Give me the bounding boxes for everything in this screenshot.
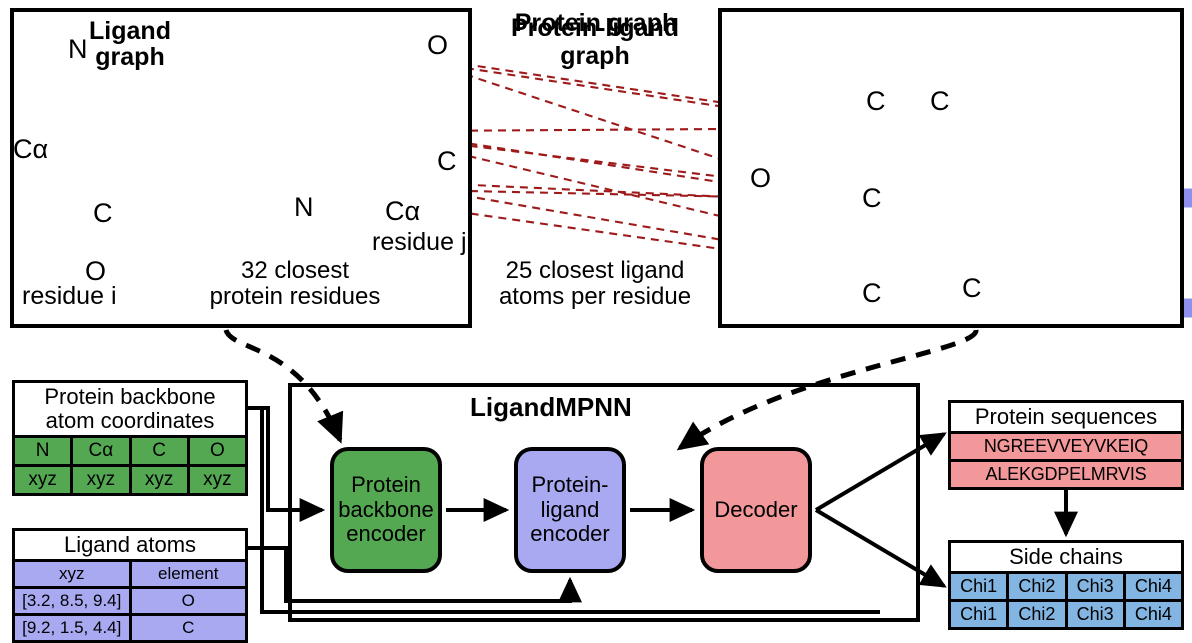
backbone-encoder-line1: Protein xyxy=(338,473,433,498)
pl-encoder-line1: Protein- xyxy=(530,473,610,498)
residue-j-o-label: O xyxy=(427,32,448,59)
table-row: N Cα C O xyxy=(15,438,245,467)
protein-graph-caption: 32 closest protein residues xyxy=(175,258,415,311)
table-cell: Chi3 xyxy=(1068,574,1126,599)
protein-ligand-caption-line2: atoms per residue xyxy=(470,284,720,310)
ligand-atoms-table-title: Ligand atoms xyxy=(15,531,245,562)
residue-j-label: residue j xyxy=(372,228,467,257)
residue-j-c-label: C xyxy=(437,148,457,175)
side-chains-table: Side chains Chi1 Chi2 Chi3 Chi4 Chi1 Chi… xyxy=(948,540,1184,630)
ligand-c-mid-label: C xyxy=(862,185,882,212)
pl-encoder-line3: encoder xyxy=(530,522,610,547)
side-chains-table-title: Side chains xyxy=(951,543,1181,574)
table-cell: N xyxy=(15,438,73,464)
table-cell: O xyxy=(132,589,246,613)
table-cell: element xyxy=(132,562,246,586)
protein-backbone-table-title: Protein backbone atom coordinates xyxy=(15,383,245,438)
protein-graph-caption-line1: 32 closest xyxy=(175,258,415,284)
backbone-encoder-line3: encoder xyxy=(338,522,433,547)
table-row: [9.2, 1.5, 4.4] C xyxy=(15,616,245,640)
protein-ligand-graph-title: Protein-ligand graph xyxy=(480,14,710,70)
table-cell: Chi4 xyxy=(1126,574,1181,599)
protein-backbone-title-line2: atom coordinates xyxy=(19,409,241,433)
table-row: xyz element xyxy=(15,562,245,589)
decoder-block[interactable]: Decoder xyxy=(700,447,812,573)
table-cell: ALEKGDPELMRVIS xyxy=(951,462,1181,487)
protein-backbone-title-line1: Protein backbone xyxy=(19,385,241,409)
table-cell: C xyxy=(132,438,190,464)
ligand-graph-panel xyxy=(718,8,1184,328)
protein-ligand-graph-title-line2: graph xyxy=(480,42,710,70)
table-cell: xyz xyxy=(190,467,245,493)
table-cell: xyz xyxy=(15,562,132,586)
table-cell: xyz xyxy=(15,467,73,493)
table-cell: Chi3 xyxy=(1068,602,1126,627)
residue-i-ca-label: Cα xyxy=(13,136,48,163)
table-cell: NGREEVVEYVKEIQ xyxy=(951,434,1181,459)
table-cell: Chi1 xyxy=(951,602,1009,627)
ligand-c-bot-left-label: C xyxy=(862,280,882,307)
table-row: Chi1 Chi2 Chi3 Chi4 xyxy=(951,602,1181,627)
protein-graph-caption-line2: protein residues xyxy=(175,284,415,310)
residue-i-n-label: N xyxy=(68,36,88,63)
table-cell: O xyxy=(190,438,245,464)
table-cell: C xyxy=(132,616,246,640)
ligand-o-label: O xyxy=(750,165,771,192)
table-row: Chi1 Chi2 Chi3 Chi4 xyxy=(951,574,1181,602)
residue-i-o-label: O xyxy=(85,258,106,285)
table-cell: Chi2 xyxy=(1009,602,1067,627)
ligand-c-bot-right-label: C xyxy=(962,275,982,302)
decoder-label: Decoder xyxy=(714,498,797,523)
table-row: xyz xyz xyz xyz xyxy=(15,467,245,493)
backbone-encoder-line2: backbone xyxy=(338,498,433,523)
table-cell: Chi1 xyxy=(951,574,1009,599)
ligand-c-top-left-label: C xyxy=(866,88,886,115)
residue-i-c-label: C xyxy=(93,200,113,227)
table-cell: Chi2 xyxy=(1009,574,1067,599)
residue-j-n-label: N xyxy=(294,194,314,221)
table-cell: Cα xyxy=(73,438,131,464)
table-cell: [9.2, 1.5, 4.4] xyxy=(15,616,132,640)
pl-encoder-line2: ligand xyxy=(530,498,610,523)
table-row: ALEKGDPELMRVIS xyxy=(951,462,1181,487)
table-cell: xyz xyxy=(73,467,131,493)
protein-ligand-graph-caption: 25 closest ligand atoms per residue xyxy=(470,258,720,311)
residue-i-label: residue i xyxy=(22,282,117,311)
table-row: NGREEVVEYVKEIQ xyxy=(951,434,1181,462)
protein-backbone-encoder-block[interactable]: Protein backbone encoder xyxy=(330,447,442,573)
graph-to-encoder-dashed-arrows xyxy=(226,330,976,448)
table-row: [3.2, 8.5, 9.4] O xyxy=(15,589,245,616)
residue-j-ca-label: Cα xyxy=(385,198,420,225)
table-cell: xyz xyxy=(132,467,190,493)
table-cell: Chi4 xyxy=(1126,602,1181,627)
protein-ligand-caption-line1: 25 closest ligand xyxy=(470,258,720,284)
protein-backbone-table: Protein backbone atom coordinates N Cα C… xyxy=(12,380,248,496)
ligand-atoms-table: Ligand atoms xyz element [3.2, 8.5, 9.4]… xyxy=(12,528,248,643)
protein-ligand-graph-title-line1: Protein-ligand xyxy=(480,14,710,42)
protein-sequences-table-title: Protein sequences xyxy=(951,403,1181,434)
table-cell: [3.2, 8.5, 9.4] xyxy=(15,589,132,613)
ligand-c-top-right-label: C xyxy=(930,88,950,115)
protein-sequences-table: Protein sequences NGREEVVEYVKEIQ ALEKGDP… xyxy=(948,400,1184,490)
protein-ligand-encoder-block[interactable]: Protein- ligand encoder xyxy=(514,447,626,573)
ligandmpnn-title: LigandMPNN xyxy=(470,392,632,423)
